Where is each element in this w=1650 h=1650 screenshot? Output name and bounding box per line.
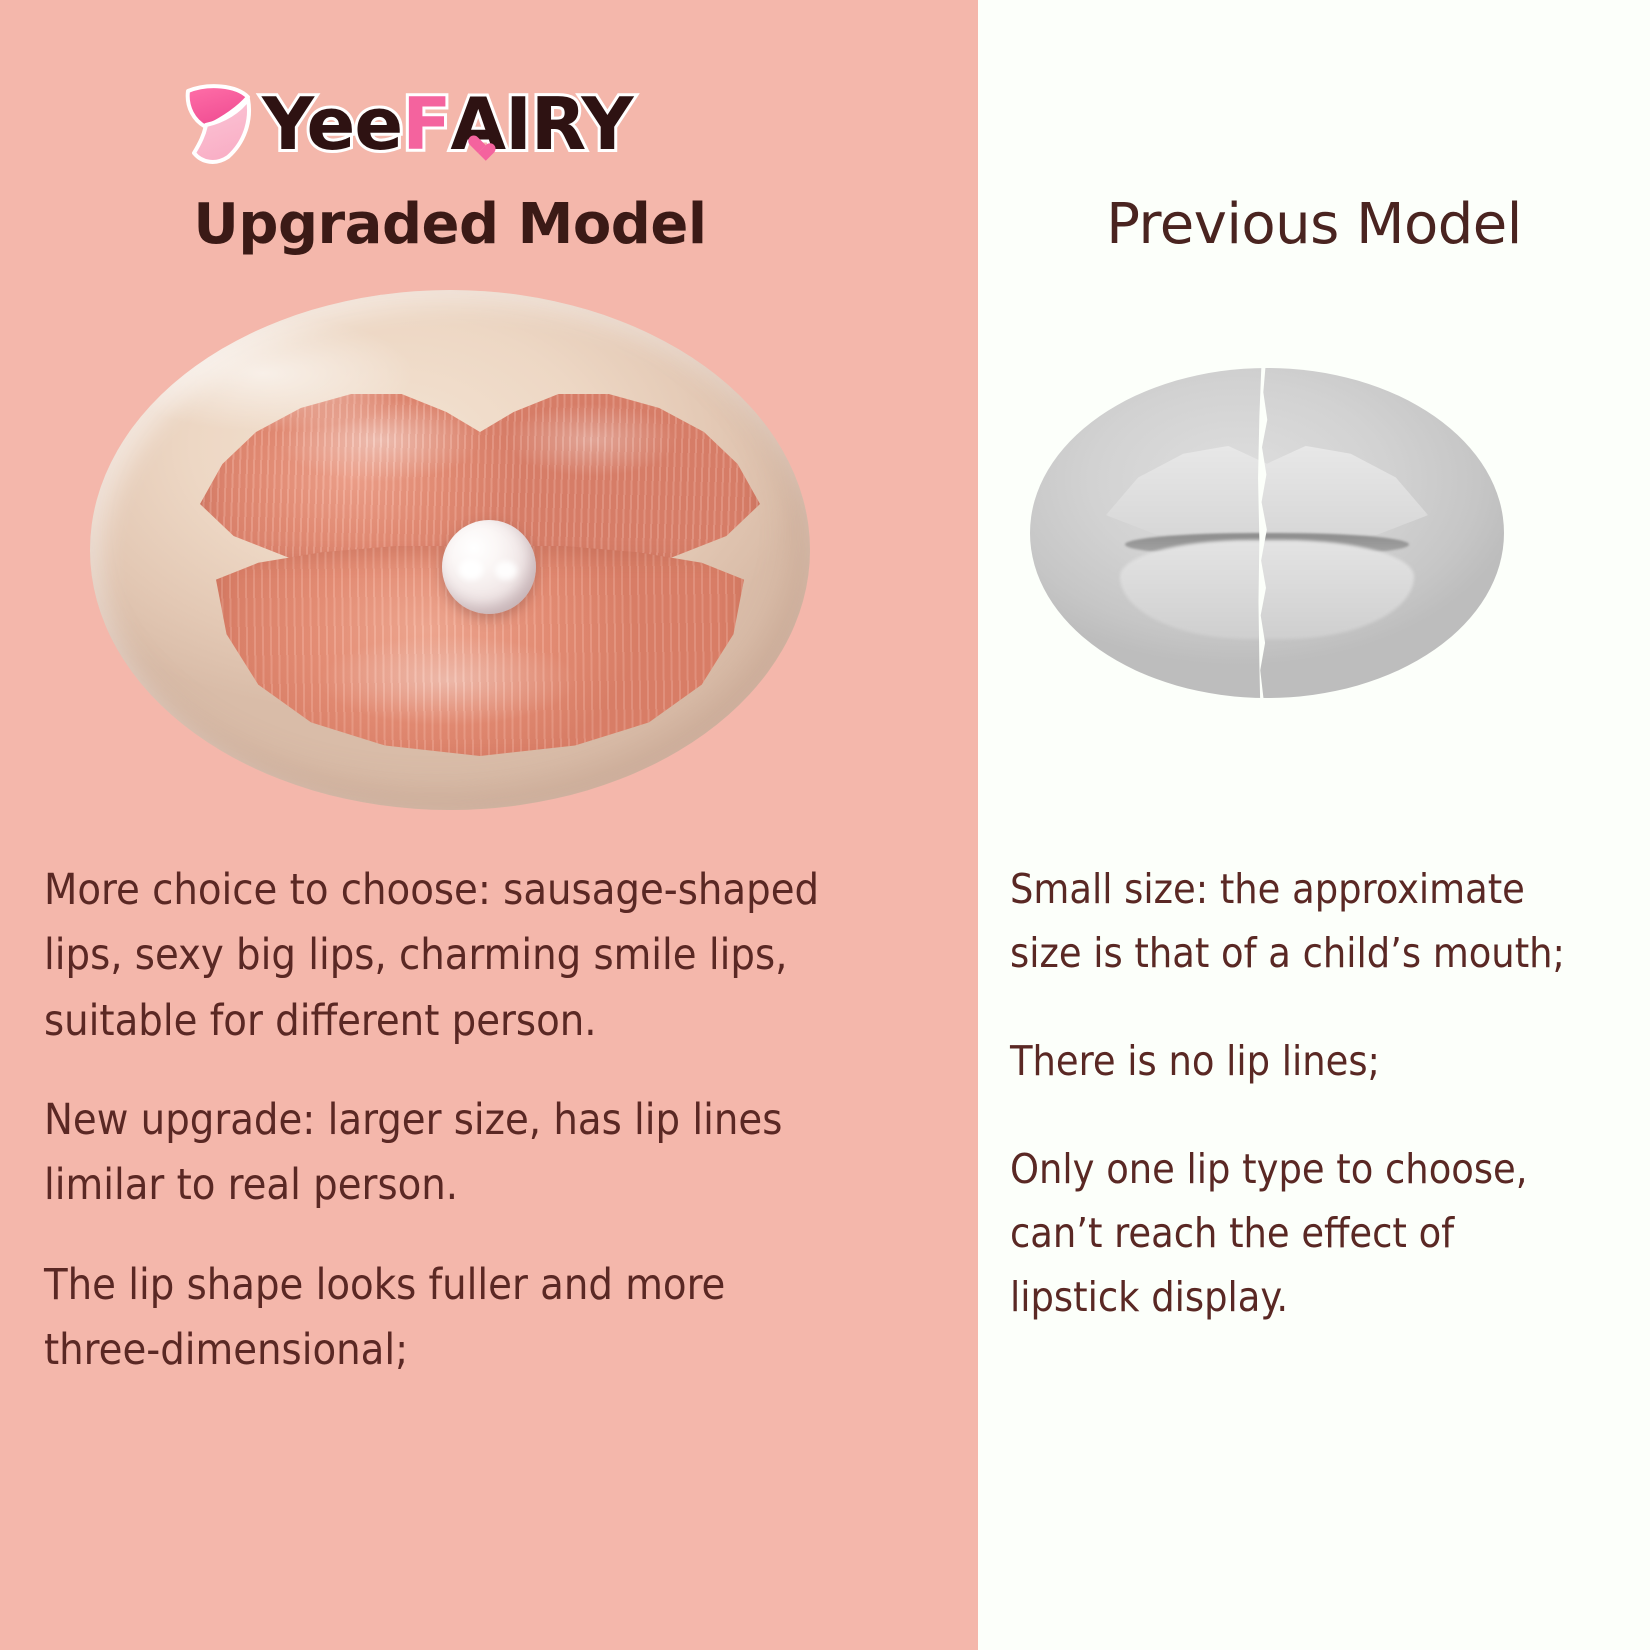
previous-model-limitations: Small size: the approximate size is that…: [1010, 858, 1610, 1374]
lower-lip: [216, 546, 744, 756]
limitation-paragraph: Small size: the approximate size is that…: [1010, 858, 1610, 986]
upgraded-model-heading: Upgraded Model: [0, 192, 900, 257]
mouth-opening: [312, 550, 652, 584]
heart-icon: [467, 136, 489, 156]
logo-iry: IRY: [505, 88, 632, 160]
previous-product-image: [1030, 368, 1504, 698]
lower-lip-previous: [1120, 540, 1414, 639]
feature-paragraph: More choice to choose: sausage-shaped li…: [44, 858, 934, 1054]
upgraded-product-image: [72, 282, 832, 822]
logo-yee: Yee: [262, 88, 402, 160]
lips-upgraded: [200, 368, 760, 768]
upper-lip-previous: [1106, 444, 1428, 543]
feature-paragraph: The lip shape looks fuller and more thre…: [44, 1253, 934, 1384]
fairy-wing-icon: [178, 81, 256, 167]
brand-wordmark: YeeFAIRY: [262, 88, 633, 160]
upper-lip: [200, 380, 760, 580]
limitation-paragraph: There is no lip lines;: [1010, 1030, 1610, 1094]
infographic-page: YeeFAIRY Upgraded Model Previous Model M…: [0, 0, 1650, 1650]
upgraded-model-features: More choice to choose: sausage-shaped li…: [44, 858, 934, 1418]
previous-model-heading: Previous Model: [978, 192, 1650, 257]
pearl-icon: [442, 520, 536, 614]
logo-a: A: [450, 88, 505, 160]
feature-paragraph: New upgrade: larger size, has lip lines …: [44, 1088, 934, 1219]
silicone-pad-upgraded: [90, 290, 810, 810]
brand-logo: YeeFAIRY: [178, 78, 633, 170]
limitation-paragraph: Only one lip type to choose, can’t reach…: [1010, 1138, 1610, 1330]
silicone-pad-previous: [1030, 368, 1504, 698]
logo-f: F: [402, 88, 450, 160]
